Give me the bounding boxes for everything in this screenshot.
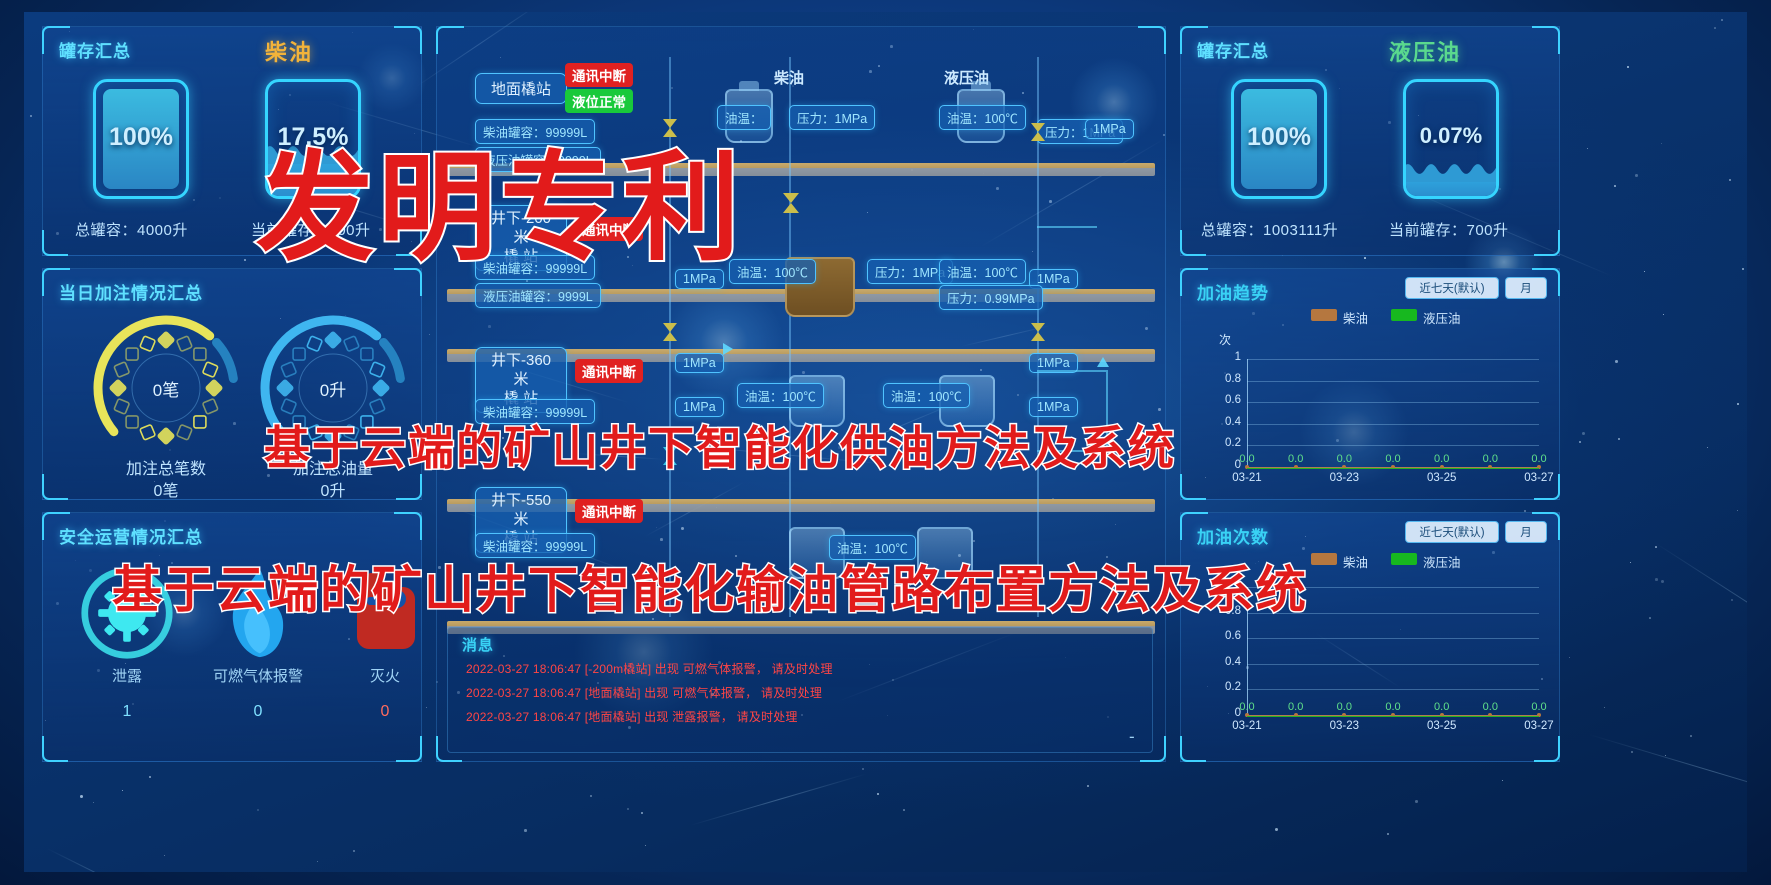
right-total-caption: 总罐容：1003111升 <box>1201 219 1338 240</box>
gridline <box>1247 381 1539 382</box>
gridline <box>1247 689 1539 690</box>
watermark-stamp: 发明专利 <box>256 112 744 283</box>
left-total-percent: 100% <box>96 123 186 152</box>
gauge-refuel-count-label: 加注总笔数0笔 <box>91 459 241 502</box>
y-axis-tick: 0.2 <box>1207 681 1241 693</box>
x-axis-tick: 03-25 <box>1418 720 1466 732</box>
right-fuel-name: 液压油 <box>1389 35 1461 67</box>
safety-item-0-value: 1 <box>77 703 177 721</box>
right-tank-title: 罐存汇总 <box>1197 37 1269 62</box>
data-point-label: 0.0 <box>1377 701 1409 713</box>
y-axis-line <box>1247 359 1248 467</box>
count-legend-swatch-diesel <box>1311 553 1337 565</box>
panel-right-tank-summary: 罐存汇总 液压油 100% 0.07% 总罐容：1003111升 当前罐存：70… <box>1180 26 1560 256</box>
data-point-label: 0.0 <box>1474 453 1506 465</box>
watermark-line-2: 基于云端的矿山井下智能化输油管路布置方法及系统 <box>112 550 1308 622</box>
count-legend-label-diesel: 柴油 <box>1343 552 1368 571</box>
tank-cap-icon-2 <box>971 81 991 91</box>
message-log-line-1: 2022-03-27 18:06:47 [地面橇站] 出现 可燃气体报警， 请及… <box>466 684 822 701</box>
safety-panel-title: 安全运营情况汇总 <box>59 523 203 548</box>
station-0-badge-1: 液位正常 <box>565 89 633 113</box>
safety-item-1-label: 可燃气体报警 <box>183 665 333 686</box>
safety-item-0-label: 泄露 <box>77 665 177 686</box>
trend-chart-plot: 00.20.40.60.810.003-210.00.003-230.00.00… <box>1201 351 1551 491</box>
count-range-button[interactable]: 近七天(默认) <box>1405 521 1499 543</box>
left-fuel-name: 柴油 <box>265 35 313 67</box>
y-axis-tick: 0.4 <box>1207 416 1241 428</box>
left-total-caption: 总罐容：4000升 <box>75 219 188 240</box>
minimize-icon[interactable]: - <box>1129 727 1135 747</box>
station-0-badge-0: 通讯中断 <box>565 63 633 87</box>
series-line-液压油 <box>1247 468 1539 470</box>
wave-icon <box>1403 156 1499 182</box>
y-axis-tick: 0.6 <box>1207 630 1241 642</box>
sensor-tag-pressure-0: 压力：1MPa <box>789 105 875 130</box>
x-axis-tick: 03-21 <box>1223 720 1271 732</box>
data-point-label: 0.0 <box>1474 701 1506 713</box>
x-axis-tick: 03-23 <box>1320 720 1368 732</box>
pressure-tag-4: 1MPa <box>1029 353 1078 373</box>
trend-range-button[interactable]: 近七天(默认) <box>1405 277 1499 299</box>
message-log-title: 消息 <box>462 634 494 655</box>
trend-chart-title: 加油趋势 <box>1197 279 1269 304</box>
gauge-refuel-count-value: 0笔 <box>91 313 241 463</box>
station-3-badge-0: 通讯中断 <box>575 499 643 523</box>
left-total-tank-gauge: 100% <box>93 79 189 199</box>
screen-background: 罐存汇总 柴油 100% 17.5% 总罐容：4000升 当前罐存：700升 当… <box>0 0 1771 885</box>
data-point-label: 0.0 <box>1523 701 1555 713</box>
x-axis-tick: 03-25 <box>1418 472 1466 484</box>
series-line-液压油 <box>1247 716 1539 718</box>
right-total-tank-gauge: 100% <box>1231 79 1327 199</box>
x-axis-tick: 03-21 <box>1223 472 1271 484</box>
tank-cap-icon-1 <box>739 81 759 91</box>
sensor-tag-oil-temp-3: 油温：100℃ <box>939 259 1026 284</box>
gridline <box>1247 664 1539 665</box>
y-axis-tick: 1 <box>1207 351 1241 363</box>
right-current-caption: 当前罐存：700升 <box>1389 219 1509 240</box>
gridline <box>1247 359 1539 360</box>
right-current-tank-gauge: 0.07% <box>1403 79 1499 199</box>
trend-legend-label-hydraulic: 液压油 <box>1423 308 1461 327</box>
x-axis-tick: 03-27 <box>1515 472 1563 484</box>
count-legend-label-hydraulic: 液压油 <box>1423 552 1461 571</box>
data-point-label: 0.0 <box>1328 453 1360 465</box>
count-chart-title: 加油次数 <box>1197 523 1269 548</box>
count-month-button[interactable]: 月 <box>1505 521 1547 543</box>
pressure-tag-0: 1MPa <box>1085 119 1134 139</box>
trend-legend-swatch-diesel <box>1311 309 1337 321</box>
message-log-box: 消息 2022-03-27 18:06:47 [-200m橇站] 出现 可燃气体… <box>447 627 1153 753</box>
message-log-line-0: 2022-03-27 18:06:47 [-200m橇站] 出现 可燃气体报警，… <box>466 660 833 677</box>
data-point-label: 0.0 <box>1328 701 1360 713</box>
right-total-percent: 100% <box>1234 123 1324 152</box>
station-1-tank-1: 液压油罐容：9999L <box>475 283 601 308</box>
gridline <box>1247 638 1539 639</box>
sensor-tag-oil-temp-5: 油温：100℃ <box>883 383 970 408</box>
right-current-percent: 0.07% <box>1406 123 1496 149</box>
data-point-label: 0.0 <box>1280 453 1312 465</box>
message-log-line-2: 2022-03-27 18:06:47 [地面橇站] 出现 泄露报警， 请及时处… <box>466 708 798 725</box>
data-point-label: 0.0 <box>1377 453 1409 465</box>
pressure-tag-3: 1MPa <box>675 353 724 373</box>
data-point-label: 0.0 <box>1426 701 1458 713</box>
watermark-line-1: 基于云端的矿山井下智能化供油方法及系统 <box>264 412 1176 478</box>
data-point-label: 0.0 <box>1231 453 1263 465</box>
y-axis-tick: 0.8 <box>1207 373 1241 385</box>
trend-legend-label-diesel: 柴油 <box>1343 308 1368 327</box>
y-axis-tick: 0.2 <box>1207 437 1241 449</box>
column-header-diesel: 柴油 <box>767 65 811 90</box>
gauge-refuel-count: 0笔 <box>91 313 241 463</box>
trend-y-axis-label: 次 <box>1219 331 1231 348</box>
left-tank-title: 罐存汇总 <box>59 37 131 62</box>
gridline <box>1247 445 1539 446</box>
gridline <box>1247 424 1539 425</box>
safety-item-1-value: 0 <box>183 703 333 721</box>
dashboard-board: 罐存汇总 柴油 100% 17.5% 总罐容：4000升 当前罐存：700升 当… <box>24 12 1747 872</box>
station-2-badge-0: 通讯中断 <box>575 359 643 383</box>
data-point-label: 0.0 <box>1231 701 1263 713</box>
panel-refuel-trend-chart: 加油趋势 近七天(默认) 月 柴油 液压油 次 00.20.40.60.810.… <box>1180 268 1560 500</box>
sensor-tag-oil-temp-1: 油温：100℃ <box>939 105 1026 130</box>
x-axis-tick: 03-27 <box>1515 720 1563 732</box>
y-axis-tick: 0.4 <box>1207 656 1241 668</box>
today-panel-title: 当日加注情况汇总 <box>59 279 203 304</box>
data-point-label: 0.0 <box>1280 701 1312 713</box>
station-0-name[interactable]: 地面橇站 <box>475 73 567 104</box>
sensor-tag-pressure-3: 压力：0.99MPa <box>939 285 1043 310</box>
y-axis-tick: 0.6 <box>1207 394 1241 406</box>
count-legend-swatch-hydraulic <box>1391 553 1417 565</box>
trend-legend-swatch-hydraulic <box>1391 309 1417 321</box>
data-point-label: 0.0 <box>1523 453 1555 465</box>
data-point-label: 0.0 <box>1426 453 1458 465</box>
safety-item-2-label: 灭火 <box>335 665 435 686</box>
sensor-tag-oil-temp-4: 油温：100℃ <box>737 383 824 408</box>
safety-item-2-value: 0 <box>335 703 435 721</box>
gridline <box>1247 402 1539 403</box>
trend-month-button[interactable]: 月 <box>1505 277 1547 299</box>
x-axis-tick: 03-23 <box>1320 472 1368 484</box>
